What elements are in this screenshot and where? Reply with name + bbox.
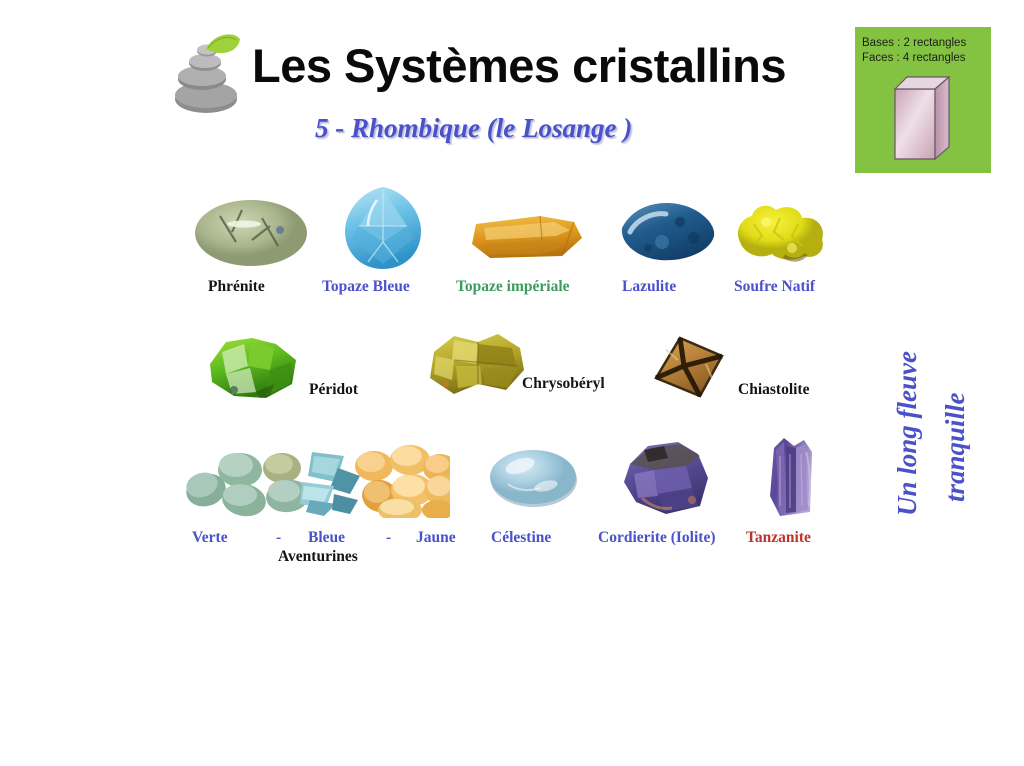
gem-label-chiastolite: Chiastolite	[738, 381, 809, 399]
dash-separator-icon-2: -	[386, 529, 391, 547]
tagline-block: Un long fleuve tranquille	[862, 232, 982, 522]
gem-label-tanzanite: Tanzanite	[746, 529, 811, 547]
gem-label-phrenite: Phrénite	[208, 278, 265, 296]
gem-label-aventurine-jaune: Jaune	[416, 529, 456, 547]
gem-label-topaze-imperiale: Topaze impériale	[456, 278, 570, 296]
page-subtitle: 5 - Rhombique (le Losange )	[315, 113, 632, 144]
info-card-bases-line: Bases : 2 rectangles	[862, 36, 991, 51]
gem-label-peridot: Péridot	[309, 381, 358, 399]
zen-stone-stack-icon	[168, 27, 250, 115]
gem-label-aventurine-verte: Verte	[192, 529, 228, 547]
rectangular-prism-icon	[893, 75, 955, 161]
gem-label-soufre-natif: Soufre Natif	[734, 278, 815, 296]
dash-separator-icon-1: -	[276, 529, 281, 547]
page-title: Les Systèmes cristallins	[252, 38, 786, 93]
shape-info-card: Bases : 2 rectangles Faces : 4 rectangle…	[855, 27, 991, 173]
gem-label-aventurines: Aventurines	[278, 548, 358, 566]
gem-label-topaze-bleue: Topaze Bleue	[322, 278, 410, 296]
gem-label-chrysoberyl: Chrysobéryl	[522, 375, 605, 393]
info-card-faces-line: Faces : 4 rectangles	[862, 51, 991, 66]
gem-label-celestine: Célestine	[491, 529, 551, 547]
slide-canvas: Les Systèmes cristallins 5 - Rhombique (…	[0, 0, 1024, 576]
tagline-line-1: Un long fleuve	[892, 351, 923, 516]
tagline-line-2: tranquille	[940, 392, 971, 502]
gem-label-lazulite: Lazulite	[622, 278, 676, 296]
gem-label-cordierite: Cordierite (Iolite)	[598, 529, 716, 547]
gem-label-aventurine-bleue: Bleue	[308, 529, 345, 547]
